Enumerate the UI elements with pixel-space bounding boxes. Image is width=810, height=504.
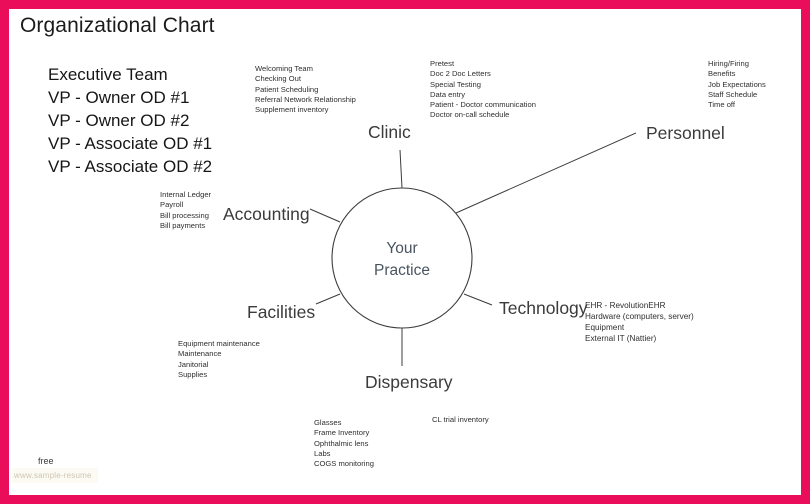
free-label: free (38, 456, 54, 466)
branch-details-facilities: Equipment maintenance Maintenance Janito… (178, 339, 260, 380)
detail-item: Time off (708, 100, 766, 110)
detail-item: Ophthalmic lens (314, 439, 374, 449)
detail-item: Maintenance (178, 349, 260, 359)
detail-item: Pretest (430, 59, 536, 69)
detail-item: Patient - Doctor communication (430, 100, 536, 110)
branch-label-clinic[interactable]: Clinic (368, 122, 411, 143)
detail-item: Doc 2 Doc Letters (430, 69, 536, 79)
executive-team-block: Executive Team VP - Owner OD #1 VP - Own… (48, 63, 212, 178)
detail-item: Frame Inventory (314, 428, 374, 438)
branch-details-clinic-left: Welcoming Team Checking Out Patient Sche… (255, 64, 356, 115)
branch-details-dispensary-right: CL trial inventory (432, 415, 489, 425)
frame-border-left (0, 0, 9, 504)
center-node-line-2: Practice (332, 260, 472, 282)
executive-role-2: VP - Owner OD #2 (48, 109, 212, 132)
detail-item: COGS monitoring (314, 459, 374, 469)
branch-details-technology: EHR - RevolutionEHR Hardware (computers,… (585, 300, 694, 344)
branch-label-technology[interactable]: Technology (499, 298, 588, 319)
detail-item: Staff Schedule (708, 90, 766, 100)
detail-item: Glasses (314, 418, 374, 428)
detail-item: CL trial inventory (432, 415, 489, 425)
detail-item: Referral Network Relationship (255, 95, 356, 105)
center-node-label: Your Practice (332, 238, 472, 282)
detail-item: External IT (Nattier) (585, 333, 694, 344)
detail-item: Bill payments (160, 221, 211, 231)
detail-item: Internal Ledger (160, 190, 211, 200)
detail-item: Special Testing (430, 80, 536, 90)
detail-item: Payroll (160, 200, 211, 210)
branch-label-accounting[interactable]: Accounting (223, 204, 310, 225)
detail-item: Checking Out (255, 74, 356, 84)
executive-role-1: VP - Owner OD #1 (48, 86, 212, 109)
detail-item: Patient Scheduling (255, 85, 356, 95)
slide-canvas: Organizational Chart Executive Team VP -… (0, 0, 810, 504)
detail-item: Labs (314, 449, 374, 459)
detail-item: Welcoming Team (255, 64, 356, 74)
frame-border-top (0, 0, 810, 9)
watermark-text: www.sample-resume (14, 471, 92, 480)
branch-details-personnel: Hiring/Firing Benefits Job Expectations … (708, 59, 766, 110)
branch-label-dispensary[interactable]: Dispensary (365, 372, 453, 393)
branch-label-personnel[interactable]: Personnel (646, 123, 725, 144)
detail-item: Benefits (708, 69, 766, 79)
frame-border-bottom (0, 495, 810, 504)
detail-item: Equipment (585, 322, 694, 333)
detail-item: Equipment maintenance (178, 339, 260, 349)
executive-role-3: VP - Associate OD #1 (48, 132, 212, 155)
detail-item: Janitorial (178, 360, 260, 370)
detail-item: Supplement inventory (255, 105, 356, 115)
frame-border-right (801, 0, 810, 504)
branch-details-clinic-right: Pretest Doc 2 Doc Letters Special Testin… (430, 59, 536, 121)
branch-label-facilities[interactable]: Facilities (247, 302, 315, 323)
executive-team-heading: Executive Team (48, 63, 212, 86)
executive-role-4: VP - Associate OD #2 (48, 155, 212, 178)
detail-item: Hardware (computers, server) (585, 311, 694, 322)
detail-item: Doctor on-call schedule (430, 110, 536, 120)
detail-item: Job Expectations (708, 80, 766, 90)
detail-item: EHR - RevolutionEHR (585, 300, 694, 311)
detail-item: Data entry (430, 90, 536, 100)
page-title: Organizational Chart (20, 14, 215, 38)
detail-item: Supplies (178, 370, 260, 380)
branch-details-dispensary-left: Glasses Frame Inventory Ophthalmic lens … (314, 418, 374, 469)
detail-item: Hiring/Firing (708, 59, 766, 69)
branch-details-accounting: Internal Ledger Payroll Bill processing … (160, 190, 211, 231)
center-node-line-1: Your (332, 238, 472, 260)
detail-item: Bill processing (160, 211, 211, 221)
